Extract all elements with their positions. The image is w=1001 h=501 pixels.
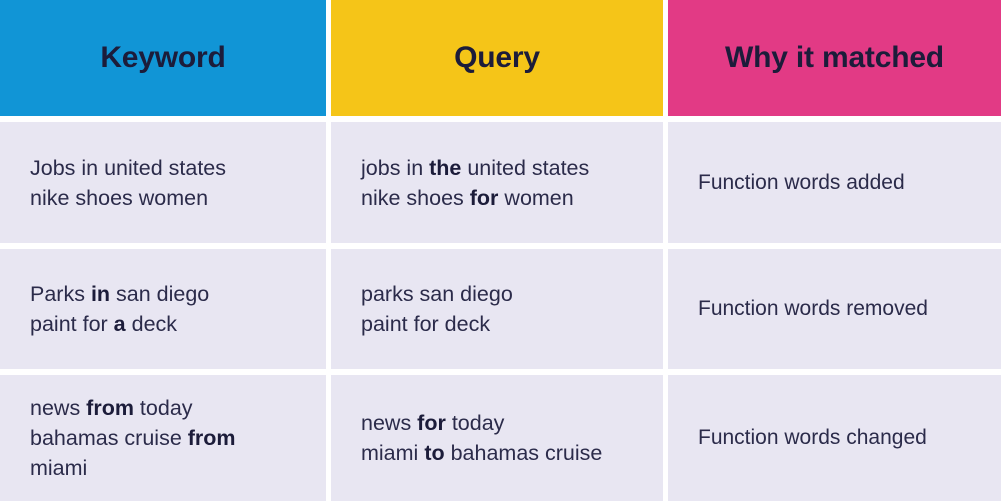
table-row: Jobs in united states nike shoes women	[0, 122, 331, 249]
column-header-why-it-matched-label: Why it matched	[725, 41, 944, 75]
table-row: Parks in san diego paint for a deck	[0, 249, 331, 375]
column-header-query: Query	[331, 0, 668, 122]
keyword-cell: Jobs in united states nike shoes women	[30, 153, 226, 213]
reason-cell: Function words added	[698, 168, 905, 198]
column-header-keyword-label: Keyword	[100, 41, 225, 75]
table-row: news for today miami to bahamas cruise	[331, 375, 668, 501]
column-header-keyword: Keyword	[0, 0, 331, 122]
reason-cell: Function words changed	[698, 423, 927, 453]
keyword-cell: Parks in san diego paint for a deck	[30, 279, 209, 339]
column-header-why-it-matched: Why it matched	[668, 0, 1001, 122]
table-row: Function words changed	[668, 375, 1001, 501]
table-row: jobs in the united states nike shoes for…	[331, 122, 668, 249]
column-header-query-label: Query	[454, 41, 540, 75]
table-row: Function words removed	[668, 249, 1001, 375]
table-row: Function words added	[668, 122, 1001, 249]
table-row: parks san diego paint for deck	[331, 249, 668, 375]
keyword-cell: news from today bahamas cruise from miam…	[30, 393, 236, 483]
query-cell: parks san diego paint for deck	[361, 279, 513, 339]
comparison-table: Keyword Query Why it matched Jobs in uni…	[0, 0, 1001, 501]
query-cell: jobs in the united states nike shoes for…	[361, 153, 589, 213]
table-row: news from today bahamas cruise from miam…	[0, 375, 331, 501]
table-grid: Keyword Query Why it matched Jobs in uni…	[0, 0, 1001, 501]
query-cell: news for today miami to bahamas cruise	[361, 408, 602, 468]
reason-cell: Function words removed	[698, 294, 928, 324]
